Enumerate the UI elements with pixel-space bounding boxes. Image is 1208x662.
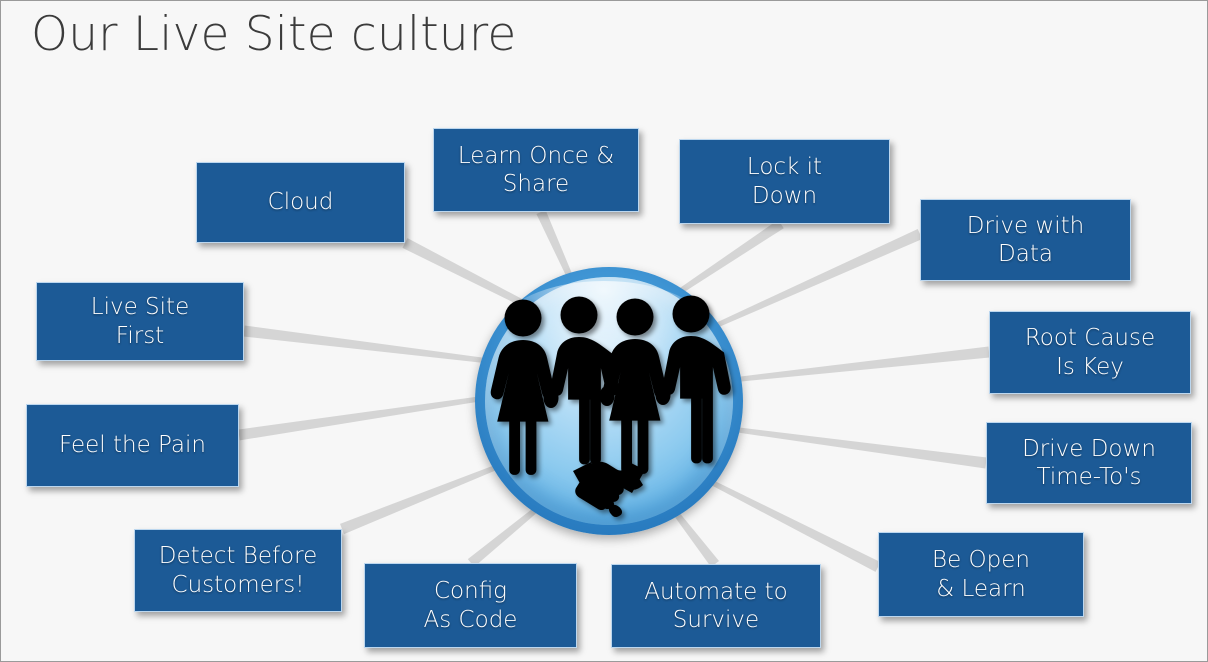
node-label: Drive with Data: [967, 212, 1084, 268]
node-drive-down-ttx[interactable]: Drive Down Time-To's: [986, 422, 1192, 504]
node-label: Root Cause Is Key: [1025, 324, 1155, 380]
connector-live-site-first: [243, 326, 489, 364]
connector-feel-the-pain: [238, 397, 479, 441]
node-root-cause-is-key[interactable]: Root Cause Is Key: [989, 311, 1191, 394]
node-live-site-first[interactable]: Live Site First: [36, 282, 244, 361]
node-label: Config As Code: [424, 577, 518, 633]
node-label: Live Site First: [91, 293, 189, 349]
node-label: Lock it Down: [747, 153, 822, 209]
figure-male-4: [662, 296, 730, 464]
people-holding-hands-icon: [475, 267, 743, 535]
connector-drive-with-data: [714, 229, 922, 328]
node-learn-once-share[interactable]: Learn Once & Share: [433, 128, 639, 212]
node-label: Learn Once & Share: [458, 142, 614, 198]
node-label: Drive Down Time-To's: [1022, 435, 1156, 491]
figure-female-3: [603, 299, 667, 474]
handshake-icon: [573, 461, 645, 517]
node-detect-before[interactable]: Detect Before Customers!: [134, 529, 342, 612]
node-label: Cloud: [268, 188, 334, 216]
node-label: Detect Before Customers!: [159, 542, 317, 598]
node-config-as-code[interactable]: Config As Code: [364, 563, 577, 648]
node-be-open-learn[interactable]: Be Open & Learn: [878, 532, 1084, 617]
connector-root-cause-is-key: [741, 347, 990, 382]
node-label: Be Open & Learn: [932, 546, 1030, 602]
node-drive-with-data[interactable]: Drive with Data: [920, 199, 1131, 281]
figure-female-1: [491, 300, 555, 475]
center-emblem: [475, 267, 743, 535]
page-title: Our Live Site culture: [31, 7, 516, 62]
slide-canvas: Our Live Site culture: [0, 0, 1208, 662]
node-feel-the-pain[interactable]: Feel the Pain: [26, 404, 239, 487]
node-label: Feel the Pain: [59, 431, 206, 459]
node-lock-it-down[interactable]: Lock it Down: [679, 139, 890, 224]
node-cloud[interactable]: Cloud: [196, 162, 405, 243]
node-label: Automate to Survive: [644, 578, 787, 634]
connector-drive-down-ttx: [731, 427, 987, 469]
node-automate-survive[interactable]: Automate to Survive: [611, 564, 821, 648]
